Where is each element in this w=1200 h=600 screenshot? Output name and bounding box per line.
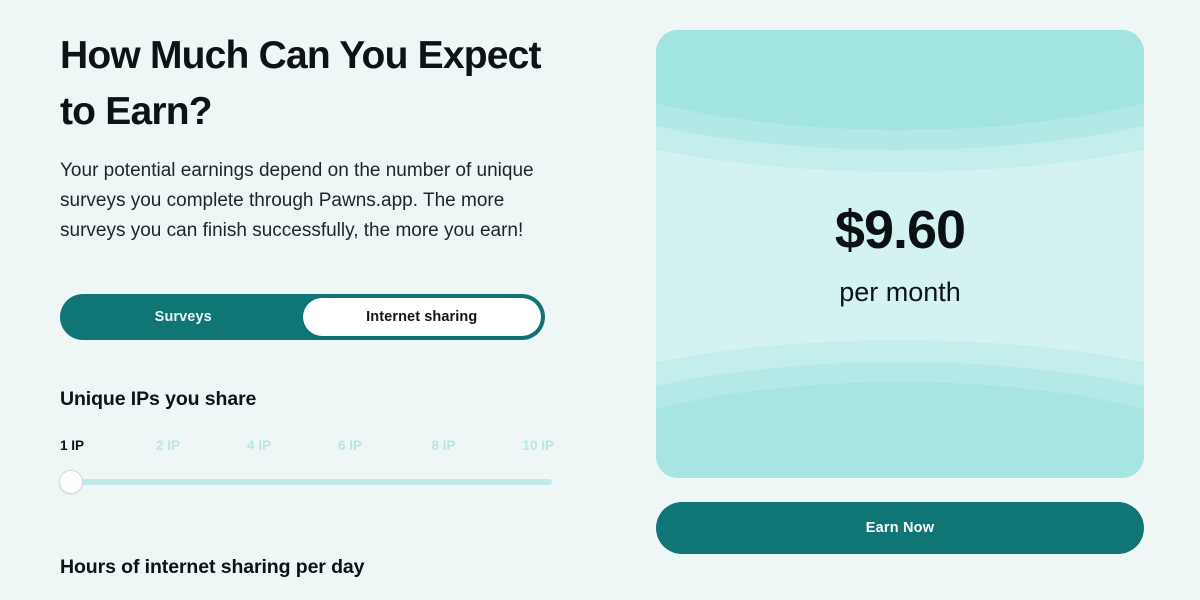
earnings-amount: $9.60 <box>835 203 965 257</box>
toggle-option-surveys[interactable]: Surveys <box>64 298 303 336</box>
earnings-amount-block: $9.60 per month <box>656 30 1144 478</box>
earning-mode-toggle[interactable]: Surveys Internet sharing <box>60 294 545 340</box>
tick-8-ip[interactable]: 8 IP <box>431 438 455 453</box>
unique-ips-slider-group[interactable]: 1 IP 2 IP 4 IP 6 IP 8 IP 10 IP <box>60 438 552 494</box>
earn-now-button[interactable]: Earn Now <box>656 502 1144 554</box>
earnings-calculator-page: How Much Can You Expect to Earn? Your po… <box>0 0 1200 600</box>
unique-ips-slider-track[interactable] <box>60 479 552 485</box>
tick-6-ip[interactable]: 6 IP <box>338 438 362 453</box>
toggle-option-internet-sharing[interactable]: Internet sharing <box>303 298 542 336</box>
tick-1-ip[interactable]: 1 IP <box>60 438 84 453</box>
tick-2-ip[interactable]: 2 IP <box>156 438 180 453</box>
page-title: How Much Can You Expect to Earn? <box>60 28 580 140</box>
earnings-period: per month <box>839 279 961 306</box>
hours-sharing-label: Hours of internet sharing per day <box>60 556 364 579</box>
unique-ips-label: Unique IPs you share <box>60 388 256 411</box>
page-description: Your potential earnings depend on the nu… <box>60 156 538 246</box>
earnings-estimate-card: $9.60 per month <box>656 30 1144 478</box>
unique-ips-slider-track-wrap[interactable] <box>60 470 552 494</box>
calculator-left-column: How Much Can You Expect to Earn? Your po… <box>60 0 590 600</box>
tick-4-ip[interactable]: 4 IP <box>247 438 271 453</box>
tick-10-ip[interactable]: 10 IP <box>522 438 554 453</box>
unique-ips-tick-row: 1 IP 2 IP 4 IP 6 IP 8 IP 10 IP <box>60 438 552 460</box>
unique-ips-slider-thumb[interactable] <box>59 470 83 494</box>
